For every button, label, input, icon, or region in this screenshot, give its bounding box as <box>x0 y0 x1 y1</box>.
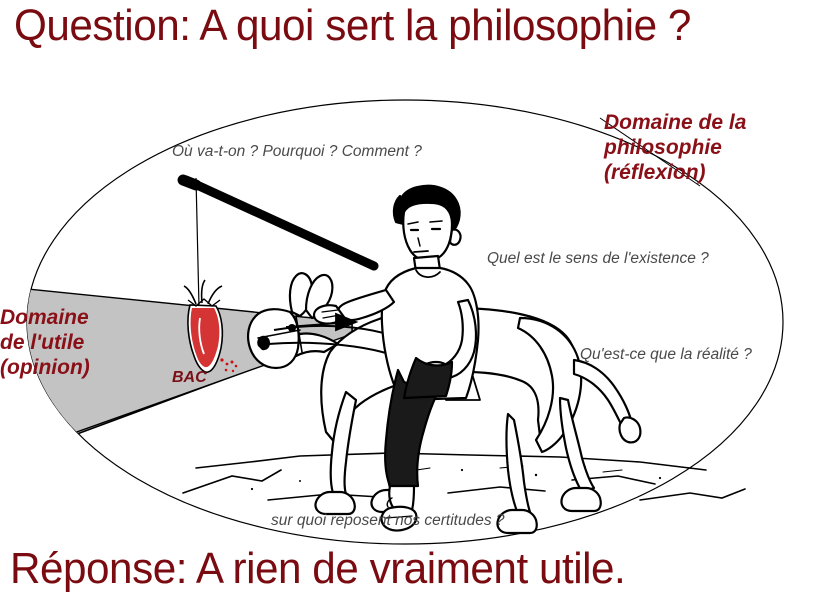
label-bac: BAC <box>172 369 207 387</box>
question-certitudes: sur quoi reposent nos certitudes ? <box>271 512 505 530</box>
illustration-canvas: Question: A quoi sert la philosophie ? R… <box>0 0 835 607</box>
question-sens-existence: Quel est le sens de l'existence ? <box>487 250 709 268</box>
label-domaine-utile: Domaine de l'utile (opinion) <box>0 305 90 380</box>
page-title-question: Question: A quoi sert la philosophie ? <box>14 0 816 54</box>
question-realite: Qu'est-ce que la réalité ? <box>580 346 752 364</box>
question-ou-va-t-on: Où va-t-on ? Pourquoi ? Comment ? <box>172 143 422 161</box>
page-title-reponse: Réponse: A rien de vraiment utile. <box>10 541 812 597</box>
label-domaine-philosophie: Domaine de la philosophie (réflexion) <box>604 110 746 185</box>
